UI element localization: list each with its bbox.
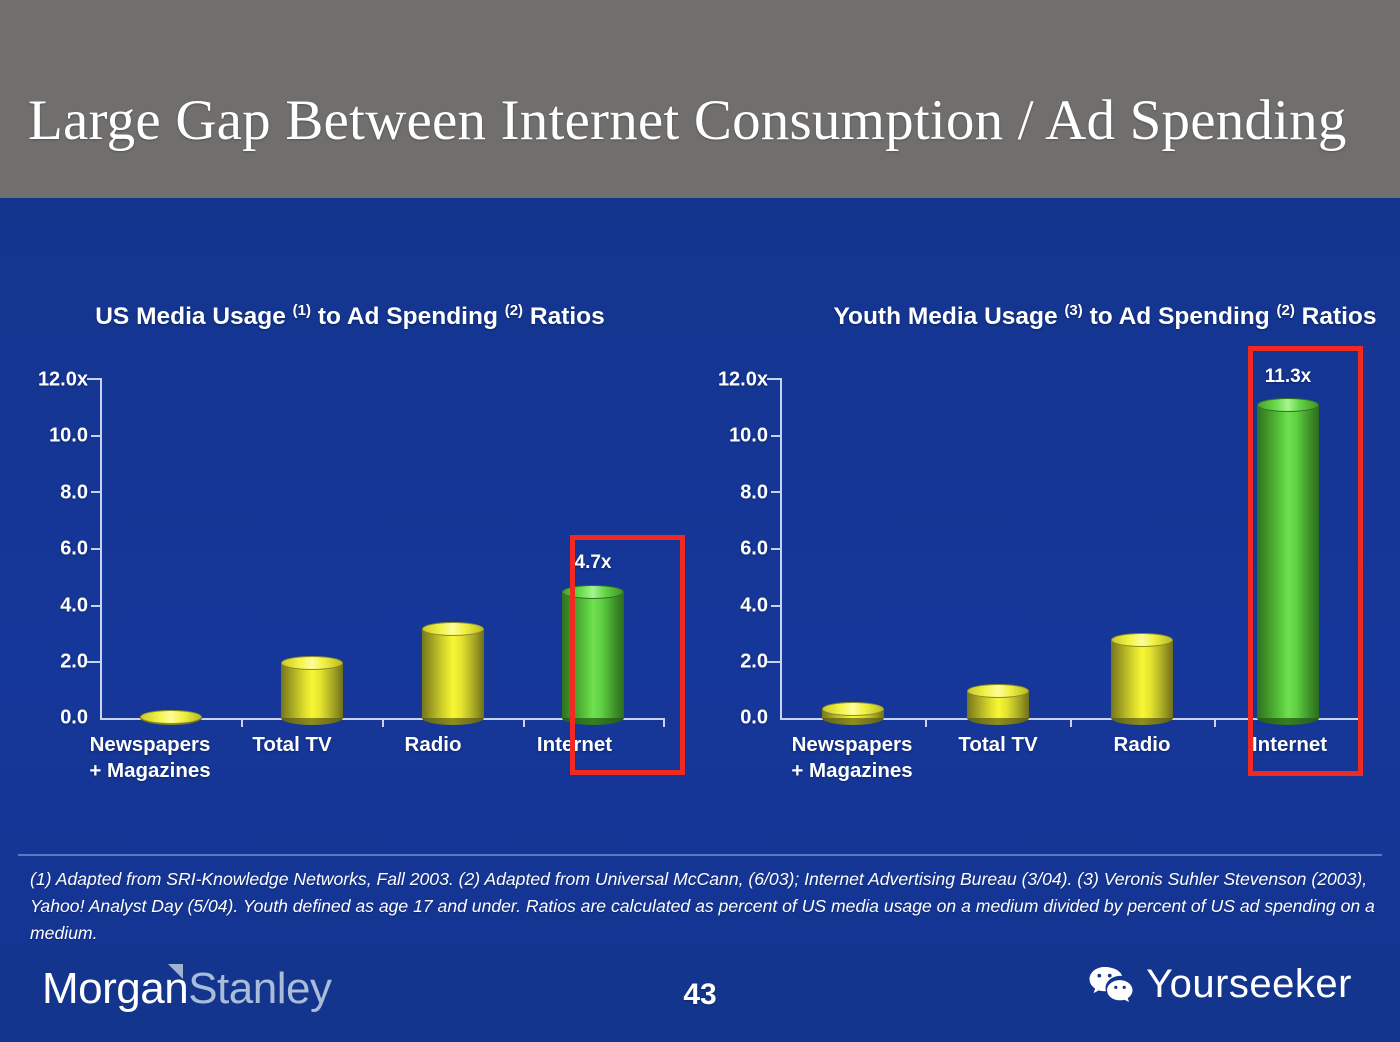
chart-panel-us-media-usage: US Media Usage (1) to Ad Spending (2) Ra… — [0, 198, 700, 818]
brand-watermark: Yourseeker — [1088, 962, 1352, 1007]
y-axis-us — [100, 378, 102, 719]
y-label-youth-3: 6.0 — [740, 538, 768, 561]
chart-title-us-part-c: Ratios — [523, 303, 605, 330]
y-tick-youth-2 — [767, 661, 780, 663]
x-category-label-us-internet: Internet — [487, 732, 662, 758]
bar-value-us-internet: 4.7x — [575, 552, 612, 574]
y-label-us-5: 2.0 — [60, 651, 88, 674]
x-tick-youth-2 — [1070, 718, 1072, 727]
y-label-us-4: 4.0 — [60, 594, 88, 617]
chart-title-youth: Youth Media Usage (3) to Ad Spending (2)… — [700, 292, 1400, 336]
bar-us-radio[interactable] — [422, 378, 484, 718]
bar-youth-internet[interactable]: 11.3x — [1257, 378, 1319, 718]
chart-title-us: US Media Usage (1) to Ad Spending (2) Ra… — [0, 292, 700, 336]
brand-name: Yourseeker — [1146, 962, 1352, 1007]
y-label-us-1: 10.0 — [49, 425, 88, 448]
bar-youth-total-tv[interactable] — [967, 378, 1029, 718]
chart-title-us-footnote-1: (1) — [293, 302, 311, 319]
chart-title-us-footnote-2: (2) — [505, 302, 523, 319]
y-label-youth-6: 0.0 — [740, 707, 768, 730]
y-label-youth-1: 10.0 — [729, 425, 768, 448]
page-title: Large Gap Between Internet Consumption /… — [28, 88, 1347, 153]
y-tick-us-6 — [91, 548, 100, 550]
x-category-label-youth-total-tv: Total TV — [918, 732, 1078, 758]
chart-title-youth-footnote-3: (3) — [1064, 302, 1082, 319]
y-tick-us-10 — [91, 435, 100, 437]
bar-youth-newspapers-magazines[interactable] — [822, 378, 884, 718]
y-tick-youth-4 — [771, 605, 780, 607]
morgan-stanley-triangle-icon — [168, 964, 183, 979]
y-label-youth-0: 12.0x — [718, 369, 768, 392]
chart-title-youth-part-c: Ratios — [1295, 303, 1377, 330]
chart-panel-youth-media-usage: Youth Media Usage (3) to Ad Spending (2)… — [700, 198, 1400, 818]
chart-title-us-part-a: US Media Usage — [95, 303, 292, 330]
x-category-label-us-total-tv: Total TV — [212, 732, 372, 758]
header-banner: Large Gap Between Internet Consumption /… — [0, 0, 1400, 198]
y-tick-us-2 — [87, 661, 100, 663]
y-tick-youth-8 — [771, 491, 780, 493]
y-label-us-0: 12.0x — [38, 369, 88, 392]
x-category-label-youth-newspapers-line2: + Magazines — [742, 758, 962, 784]
x-category-label-youth-radio: Radio — [1062, 732, 1222, 758]
bar-us-internet[interactable]: 4.7x — [562, 378, 624, 718]
slide-body: US Media Usage (1) to Ad Spending (2) Ra… — [0, 198, 1400, 1042]
y-tick-us-4 — [91, 605, 100, 607]
y-label-youth-4: 4.0 — [740, 594, 768, 617]
chart-title-us-part-b: to Ad Spending — [311, 303, 505, 330]
chart-title-youth-part-a: Youth Media Usage — [833, 303, 1064, 330]
y-label-us-2: 8.0 — [60, 481, 88, 504]
y-tick-youth-6 — [771, 548, 780, 550]
y-label-youth-5: 2.0 — [740, 651, 768, 674]
x-tick-youth-1 — [925, 718, 927, 727]
y-tick-us-8 — [91, 491, 100, 493]
bar-us-total-tv[interactable] — [281, 378, 343, 718]
x-tick-us-3 — [523, 718, 525, 727]
footer-bar: MorganStanley 43 Yourseeker — [0, 948, 1400, 1042]
chart-title-youth-part-b: to Ad Spending — [1083, 303, 1277, 330]
x-category-label-us-newspapers-line2: + Magazines — [40, 758, 260, 784]
x-tick-youth-4 — [1358, 718, 1360, 727]
y-tick-us-12 — [87, 378, 100, 380]
wechat-icon — [1088, 965, 1134, 1005]
bar-us-newspapers-magazines[interactable] — [140, 378, 202, 718]
x-tick-us-1 — [241, 718, 243, 727]
x-tick-us-4 — [663, 718, 665, 727]
bar-youth-radio[interactable] — [1111, 378, 1173, 718]
y-tick-youth-12 — [767, 378, 780, 380]
x-category-label-youth-internet: Internet — [1202, 732, 1377, 758]
y-label-us-3: 6.0 — [60, 538, 88, 561]
y-axis-youth — [780, 378, 782, 719]
footnote-text: (1) Adapted from SRI-Knowledge Networks,… — [30, 866, 1375, 947]
y-tick-youth-10 — [771, 435, 780, 437]
footnote-divider-top — [18, 854, 1382, 856]
plot-area-us: 12.0x 10.0 8.0 6.0 4.0 2.0 0.0 — [100, 378, 665, 718]
x-tick-us-2 — [382, 718, 384, 727]
y-label-youth-2: 8.0 — [740, 481, 768, 504]
bar-value-youth-internet: 11.3x — [1265, 366, 1312, 388]
x-tick-youth-3 — [1214, 718, 1216, 727]
y-label-us-6: 0.0 — [60, 707, 88, 730]
plot-area-youth: 12.0x 10.0 8.0 6.0 4.0 2.0 0.0 11.3x — [780, 378, 1360, 718]
chart-title-youth-footnote-2: (2) — [1276, 302, 1294, 319]
